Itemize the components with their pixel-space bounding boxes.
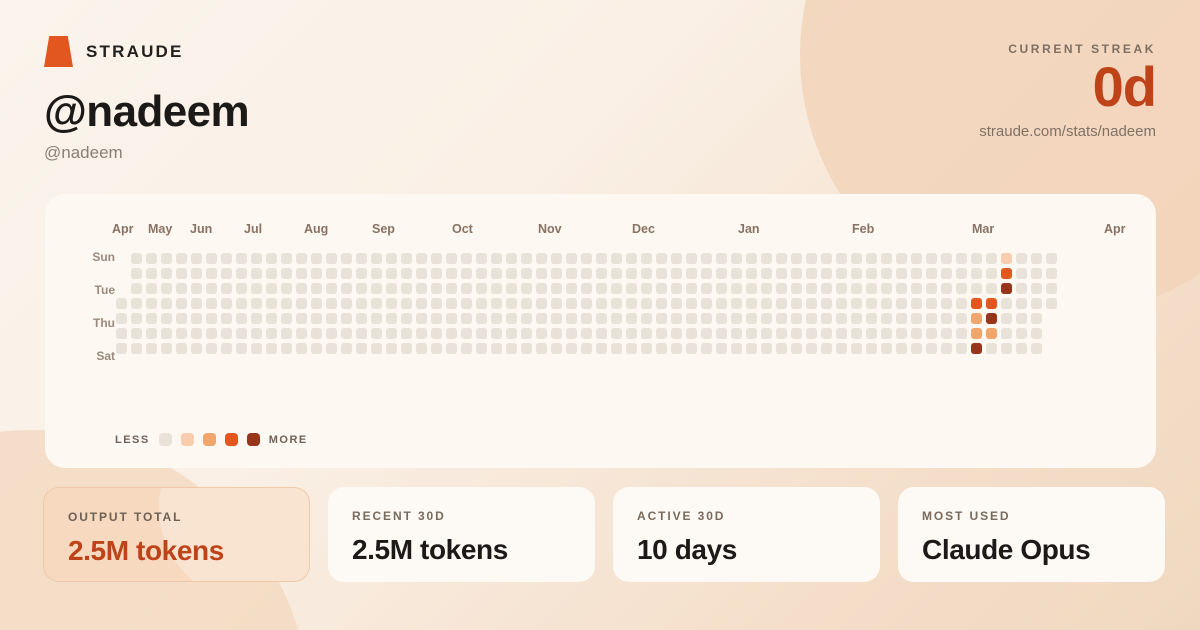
heatmap-cell[interactable] bbox=[131, 268, 142, 279]
heatmap-cell[interactable] bbox=[986, 298, 997, 309]
heatmap-cell[interactable] bbox=[986, 313, 997, 324]
heatmap-cell[interactable] bbox=[356, 298, 367, 309]
heatmap-cell[interactable] bbox=[311, 253, 322, 264]
heatmap-cell[interactable] bbox=[626, 313, 637, 324]
heatmap-cell[interactable] bbox=[461, 268, 472, 279]
heatmap-cell[interactable] bbox=[971, 283, 982, 294]
heatmap-cell[interactable] bbox=[191, 313, 202, 324]
heatmap-cell[interactable] bbox=[491, 253, 502, 264]
heatmap-cell[interactable] bbox=[821, 298, 832, 309]
heatmap-cell[interactable] bbox=[671, 328, 682, 339]
heatmap-cell[interactable] bbox=[356, 268, 367, 279]
heatmap-cell[interactable] bbox=[326, 283, 337, 294]
heatmap-cell[interactable] bbox=[416, 328, 427, 339]
heatmap-cell[interactable] bbox=[911, 283, 922, 294]
heatmap-cell[interactable] bbox=[551, 283, 562, 294]
heatmap-cell[interactable] bbox=[746, 298, 757, 309]
heatmap-cell[interactable] bbox=[251, 268, 262, 279]
heatmap-cell[interactable] bbox=[476, 328, 487, 339]
heatmap-cell[interactable] bbox=[341, 283, 352, 294]
heatmap-cell[interactable] bbox=[1031, 328, 1042, 339]
heatmap-cell[interactable] bbox=[461, 298, 472, 309]
heatmap-cell[interactable] bbox=[896, 253, 907, 264]
heatmap-cell[interactable] bbox=[116, 313, 127, 324]
heatmap-cell[interactable] bbox=[776, 343, 787, 354]
heatmap-cell[interactable] bbox=[941, 343, 952, 354]
heatmap-cell[interactable] bbox=[761, 328, 772, 339]
heatmap-cell[interactable] bbox=[926, 283, 937, 294]
heatmap-cell[interactable] bbox=[671, 298, 682, 309]
heatmap-cell[interactable] bbox=[701, 343, 712, 354]
heatmap-cell[interactable] bbox=[836, 253, 847, 264]
heatmap-cell[interactable] bbox=[596, 298, 607, 309]
heatmap-cell[interactable] bbox=[446, 283, 457, 294]
heatmap-cell[interactable] bbox=[191, 343, 202, 354]
heatmap-cell[interactable] bbox=[371, 283, 382, 294]
heatmap-cell[interactable] bbox=[371, 313, 382, 324]
heatmap-cell[interactable] bbox=[716, 313, 727, 324]
heatmap-cell[interactable] bbox=[911, 253, 922, 264]
heatmap-cell[interactable] bbox=[266, 283, 277, 294]
heatmap-cell[interactable] bbox=[836, 313, 847, 324]
heatmap-cell[interactable] bbox=[956, 283, 967, 294]
heatmap-cell[interactable] bbox=[881, 298, 892, 309]
heatmap-cell[interactable] bbox=[911, 343, 922, 354]
heatmap-cell[interactable] bbox=[641, 298, 652, 309]
heatmap-cell[interactable] bbox=[416, 298, 427, 309]
heatmap-cell[interactable] bbox=[851, 313, 862, 324]
heatmap-cell[interactable] bbox=[716, 268, 727, 279]
heatmap-cell[interactable] bbox=[911, 328, 922, 339]
heatmap-cell[interactable] bbox=[791, 283, 802, 294]
heatmap-cell[interactable] bbox=[536, 343, 547, 354]
heatmap-cell[interactable] bbox=[866, 298, 877, 309]
heatmap-cell[interactable] bbox=[146, 343, 157, 354]
heatmap-cell[interactable] bbox=[1016, 283, 1027, 294]
heatmap-cell[interactable] bbox=[416, 268, 427, 279]
heatmap-cell[interactable] bbox=[971, 268, 982, 279]
heatmap-cell[interactable] bbox=[251, 343, 262, 354]
heatmap-cell[interactable] bbox=[761, 253, 772, 264]
heatmap-cell[interactable] bbox=[491, 328, 502, 339]
heatmap-cell[interactable] bbox=[806, 253, 817, 264]
heatmap-cell[interactable] bbox=[746, 253, 757, 264]
heatmap-cell[interactable] bbox=[161, 283, 172, 294]
heatmap-cell[interactable] bbox=[626, 343, 637, 354]
heatmap-cell[interactable] bbox=[386, 343, 397, 354]
heatmap-cell[interactable] bbox=[281, 283, 292, 294]
heatmap-cell[interactable] bbox=[956, 343, 967, 354]
heatmap-cell[interactable] bbox=[581, 283, 592, 294]
heatmap-cell[interactable] bbox=[461, 328, 472, 339]
heatmap-cell[interactable] bbox=[431, 343, 442, 354]
heatmap-cell[interactable] bbox=[536, 328, 547, 339]
heatmap-cell[interactable] bbox=[776, 328, 787, 339]
heatmap-cell[interactable] bbox=[566, 313, 577, 324]
heatmap-cell[interactable] bbox=[776, 298, 787, 309]
heatmap-cell[interactable] bbox=[431, 328, 442, 339]
heatmap-cell[interactable] bbox=[941, 268, 952, 279]
heatmap-cell[interactable] bbox=[461, 313, 472, 324]
heatmap-cell[interactable] bbox=[356, 253, 367, 264]
heatmap-cell[interactable] bbox=[506, 313, 517, 324]
heatmap-cell[interactable] bbox=[1016, 328, 1027, 339]
heatmap-cell[interactable] bbox=[251, 283, 262, 294]
heatmap-cell[interactable] bbox=[146, 313, 157, 324]
heatmap-cell[interactable] bbox=[971, 313, 982, 324]
heatmap-cell[interactable] bbox=[566, 298, 577, 309]
heatmap-cell[interactable] bbox=[296, 343, 307, 354]
heatmap-cell[interactable] bbox=[341, 268, 352, 279]
heatmap-cell[interactable] bbox=[491, 313, 502, 324]
heatmap-cell[interactable] bbox=[896, 343, 907, 354]
heatmap-cell[interactable] bbox=[791, 298, 802, 309]
heatmap-cell[interactable] bbox=[161, 343, 172, 354]
heatmap-cell[interactable] bbox=[296, 283, 307, 294]
heatmap-cell[interactable] bbox=[566, 343, 577, 354]
heatmap-cell[interactable] bbox=[206, 268, 217, 279]
heatmap-cell[interactable] bbox=[401, 253, 412, 264]
heatmap-cell[interactable] bbox=[941, 328, 952, 339]
heatmap-cell[interactable] bbox=[1001, 343, 1012, 354]
heatmap-cell[interactable] bbox=[566, 268, 577, 279]
heatmap-cell[interactable] bbox=[551, 328, 562, 339]
heatmap-cell[interactable] bbox=[1001, 253, 1012, 264]
heatmap-cell[interactable] bbox=[476, 313, 487, 324]
heatmap-cell[interactable] bbox=[611, 298, 622, 309]
heatmap-cell[interactable] bbox=[596, 343, 607, 354]
heatmap-cell[interactable] bbox=[146, 283, 157, 294]
heatmap-cell[interactable] bbox=[476, 298, 487, 309]
heatmap-cell[interactable] bbox=[941, 313, 952, 324]
heatmap-cell[interactable] bbox=[446, 298, 457, 309]
heatmap-cell[interactable] bbox=[611, 283, 622, 294]
heatmap-cell[interactable] bbox=[1046, 283, 1057, 294]
heatmap-cell[interactable] bbox=[251, 313, 262, 324]
heatmap-cell[interactable] bbox=[536, 283, 547, 294]
heatmap-cell[interactable] bbox=[221, 313, 232, 324]
heatmap-cell[interactable] bbox=[131, 313, 142, 324]
heatmap-cell[interactable] bbox=[236, 283, 247, 294]
heatmap-cell[interactable] bbox=[881, 253, 892, 264]
heatmap-cell[interactable] bbox=[161, 298, 172, 309]
heatmap-cell[interactable] bbox=[191, 253, 202, 264]
heatmap-cell[interactable] bbox=[731, 343, 742, 354]
heatmap-cell[interactable] bbox=[791, 268, 802, 279]
heatmap-cell[interactable] bbox=[971, 343, 982, 354]
heatmap-cell[interactable] bbox=[761, 283, 772, 294]
heatmap-cell[interactable] bbox=[746, 283, 757, 294]
heatmap-cell[interactable] bbox=[221, 343, 232, 354]
heatmap-cell[interactable] bbox=[521, 343, 532, 354]
heatmap-cell[interactable] bbox=[356, 328, 367, 339]
heatmap-cell[interactable] bbox=[1016, 343, 1027, 354]
heatmap-cell[interactable] bbox=[371, 343, 382, 354]
heatmap-cell[interactable] bbox=[311, 343, 322, 354]
heatmap-cell[interactable] bbox=[641, 268, 652, 279]
heatmap-cell[interactable] bbox=[551, 253, 562, 264]
heatmap-cell[interactable] bbox=[131, 283, 142, 294]
heatmap-cell[interactable] bbox=[116, 298, 127, 309]
heatmap-cell[interactable] bbox=[476, 253, 487, 264]
heatmap-cell[interactable] bbox=[1046, 298, 1057, 309]
heatmap-cell[interactable] bbox=[416, 253, 427, 264]
heatmap-cell[interactable] bbox=[971, 298, 982, 309]
heatmap-cell[interactable] bbox=[746, 343, 757, 354]
heatmap-cell[interactable] bbox=[266, 313, 277, 324]
heatmap-cell[interactable] bbox=[386, 328, 397, 339]
heatmap-cell[interactable] bbox=[401, 313, 412, 324]
heatmap-cell[interactable] bbox=[986, 283, 997, 294]
heatmap-cell[interactable] bbox=[956, 253, 967, 264]
heatmap-cell[interactable] bbox=[731, 268, 742, 279]
heatmap-cell[interactable] bbox=[986, 268, 997, 279]
heatmap-cell[interactable] bbox=[761, 343, 772, 354]
heatmap-cell[interactable] bbox=[221, 328, 232, 339]
heatmap-cell[interactable] bbox=[446, 328, 457, 339]
heatmap-cell[interactable] bbox=[1046, 268, 1057, 279]
heatmap-cell[interactable] bbox=[641, 253, 652, 264]
heatmap-cell[interactable] bbox=[401, 268, 412, 279]
heatmap-cell[interactable] bbox=[731, 283, 742, 294]
heatmap-cell[interactable] bbox=[716, 253, 727, 264]
heatmap-cell[interactable] bbox=[191, 328, 202, 339]
heatmap-cell[interactable] bbox=[791, 343, 802, 354]
heatmap-cell[interactable] bbox=[821, 253, 832, 264]
heatmap-cell[interactable] bbox=[806, 313, 817, 324]
heatmap-cell[interactable] bbox=[326, 253, 337, 264]
heatmap-cell[interactable] bbox=[581, 253, 592, 264]
heatmap-cell[interactable] bbox=[821, 283, 832, 294]
heatmap-cell[interactable] bbox=[686, 283, 697, 294]
heatmap-cell[interactable] bbox=[161, 253, 172, 264]
heatmap-cell[interactable] bbox=[521, 253, 532, 264]
heatmap-cell[interactable] bbox=[311, 283, 322, 294]
heatmap-cell[interactable] bbox=[671, 313, 682, 324]
heatmap-cell[interactable] bbox=[746, 313, 757, 324]
heatmap-cell[interactable] bbox=[611, 268, 622, 279]
heatmap-cell[interactable] bbox=[386, 268, 397, 279]
heatmap-cell[interactable] bbox=[836, 298, 847, 309]
heatmap-cell[interactable] bbox=[191, 268, 202, 279]
heatmap-cell[interactable] bbox=[1001, 313, 1012, 324]
heatmap-cell[interactable] bbox=[191, 283, 202, 294]
heatmap-cell[interactable] bbox=[341, 328, 352, 339]
heatmap-cell[interactable] bbox=[581, 328, 592, 339]
heatmap-cell[interactable] bbox=[206, 253, 217, 264]
heatmap-cell[interactable] bbox=[686, 343, 697, 354]
heatmap-cell[interactable] bbox=[686, 328, 697, 339]
heatmap-cell[interactable] bbox=[116, 343, 127, 354]
heatmap-cell[interactable] bbox=[686, 268, 697, 279]
heatmap-cell[interactable] bbox=[791, 328, 802, 339]
heatmap-cell[interactable] bbox=[476, 268, 487, 279]
heatmap-cell[interactable] bbox=[236, 253, 247, 264]
heatmap-cell[interactable] bbox=[236, 343, 247, 354]
heatmap-cell[interactable] bbox=[236, 313, 247, 324]
heatmap-cell[interactable] bbox=[656, 328, 667, 339]
heatmap-cell[interactable] bbox=[926, 328, 937, 339]
heatmap-cell[interactable] bbox=[446, 343, 457, 354]
heatmap-cell[interactable] bbox=[266, 268, 277, 279]
heatmap-cell[interactable] bbox=[461, 253, 472, 264]
heatmap-cell[interactable] bbox=[506, 328, 517, 339]
heatmap-cell[interactable] bbox=[236, 328, 247, 339]
heatmap-cell[interactable] bbox=[536, 298, 547, 309]
heatmap-cell[interactable] bbox=[836, 268, 847, 279]
heatmap-cell[interactable] bbox=[491, 283, 502, 294]
heatmap-cell[interactable] bbox=[371, 268, 382, 279]
heatmap-cell[interactable] bbox=[851, 268, 862, 279]
heatmap-cell[interactable] bbox=[461, 343, 472, 354]
heatmap-cell[interactable] bbox=[551, 268, 562, 279]
heatmap-cell[interactable] bbox=[566, 253, 577, 264]
heatmap-cell[interactable] bbox=[1001, 268, 1012, 279]
heatmap-cell[interactable] bbox=[431, 298, 442, 309]
heatmap-cell[interactable] bbox=[941, 253, 952, 264]
heatmap-cell[interactable] bbox=[431, 283, 442, 294]
heatmap-cell[interactable] bbox=[326, 313, 337, 324]
heatmap-cell[interactable] bbox=[881, 343, 892, 354]
heatmap-cell[interactable] bbox=[476, 283, 487, 294]
heatmap-cell[interactable] bbox=[536, 268, 547, 279]
heatmap-cell[interactable] bbox=[671, 283, 682, 294]
heatmap-cell[interactable] bbox=[131, 343, 142, 354]
heatmap-cell[interactable] bbox=[536, 313, 547, 324]
heatmap-cell[interactable] bbox=[326, 298, 337, 309]
heatmap-cell[interactable] bbox=[131, 298, 142, 309]
heatmap-cell[interactable] bbox=[941, 283, 952, 294]
heatmap-cell[interactable] bbox=[641, 313, 652, 324]
heatmap-cell[interactable] bbox=[596, 313, 607, 324]
heatmap-cell[interactable] bbox=[281, 313, 292, 324]
heatmap-cell[interactable] bbox=[806, 328, 817, 339]
heatmap-cell[interactable] bbox=[401, 328, 412, 339]
heatmap-cell[interactable] bbox=[176, 328, 187, 339]
heatmap-cell[interactable] bbox=[806, 283, 817, 294]
heatmap-cell[interactable] bbox=[506, 343, 517, 354]
heatmap-cell[interactable] bbox=[851, 253, 862, 264]
heatmap-cell[interactable] bbox=[851, 298, 862, 309]
heatmap-cell[interactable] bbox=[731, 253, 742, 264]
heatmap-cell[interactable] bbox=[1016, 253, 1027, 264]
heatmap-cell[interactable] bbox=[611, 253, 622, 264]
heatmap-cell[interactable] bbox=[1001, 328, 1012, 339]
heatmap-cell[interactable] bbox=[1046, 253, 1057, 264]
heatmap-cell[interactable] bbox=[671, 268, 682, 279]
heatmap-cell[interactable] bbox=[746, 328, 757, 339]
heatmap-cell[interactable] bbox=[941, 298, 952, 309]
heatmap-cell[interactable] bbox=[701, 298, 712, 309]
heatmap-cell[interactable] bbox=[386, 283, 397, 294]
heatmap-cell[interactable] bbox=[761, 313, 772, 324]
heatmap-cell[interactable] bbox=[491, 298, 502, 309]
heatmap-cell[interactable] bbox=[896, 313, 907, 324]
heatmap-cell[interactable] bbox=[251, 298, 262, 309]
heatmap-cell[interactable] bbox=[521, 313, 532, 324]
heatmap-cell[interactable] bbox=[266, 298, 277, 309]
heatmap-cell[interactable] bbox=[1031, 343, 1042, 354]
heatmap-cell[interactable] bbox=[911, 268, 922, 279]
heatmap-cell[interactable] bbox=[1031, 268, 1042, 279]
heatmap-cell[interactable] bbox=[626, 253, 637, 264]
heatmap-cell[interactable] bbox=[821, 313, 832, 324]
heatmap-cell[interactable] bbox=[641, 328, 652, 339]
heatmap-cell[interactable] bbox=[866, 283, 877, 294]
heatmap-cell[interactable] bbox=[776, 253, 787, 264]
heatmap-cell[interactable] bbox=[236, 298, 247, 309]
heatmap-cell[interactable] bbox=[836, 328, 847, 339]
heatmap-cell[interactable] bbox=[221, 298, 232, 309]
heatmap-cell[interactable] bbox=[326, 268, 337, 279]
heatmap-cell[interactable] bbox=[821, 328, 832, 339]
heatmap-cell[interactable] bbox=[626, 328, 637, 339]
heatmap-cell[interactable] bbox=[881, 283, 892, 294]
heatmap-cell[interactable] bbox=[281, 343, 292, 354]
heatmap-cell[interactable] bbox=[791, 253, 802, 264]
heatmap-cell[interactable] bbox=[806, 298, 817, 309]
heatmap-cell[interactable] bbox=[506, 283, 517, 294]
heatmap-cell[interactable] bbox=[251, 253, 262, 264]
heatmap-cell[interactable] bbox=[626, 298, 637, 309]
heatmap-cell[interactable] bbox=[296, 268, 307, 279]
heatmap-cell[interactable] bbox=[176, 343, 187, 354]
heatmap-cell[interactable] bbox=[176, 268, 187, 279]
heatmap-cell[interactable] bbox=[746, 268, 757, 279]
heatmap-cell[interactable] bbox=[371, 298, 382, 309]
heatmap-cell[interactable] bbox=[641, 283, 652, 294]
heatmap-cell[interactable] bbox=[281, 268, 292, 279]
heatmap-cell[interactable] bbox=[446, 253, 457, 264]
heatmap-cell[interactable] bbox=[986, 328, 997, 339]
heatmap-cell[interactable] bbox=[896, 283, 907, 294]
heatmap-cell[interactable] bbox=[956, 298, 967, 309]
heatmap-cell[interactable] bbox=[296, 298, 307, 309]
heatmap-cell[interactable] bbox=[866, 343, 877, 354]
heatmap-cell[interactable] bbox=[506, 268, 517, 279]
heatmap-cell[interactable] bbox=[236, 268, 247, 279]
heatmap-cell[interactable] bbox=[626, 283, 637, 294]
heatmap-cell[interactable] bbox=[956, 313, 967, 324]
heatmap-cell[interactable] bbox=[446, 313, 457, 324]
heatmap-cell[interactable] bbox=[611, 343, 622, 354]
heatmap-cell[interactable] bbox=[896, 298, 907, 309]
heatmap-cell[interactable] bbox=[296, 313, 307, 324]
heatmap-cell[interactable] bbox=[131, 253, 142, 264]
heatmap-cell[interactable] bbox=[866, 268, 877, 279]
heatmap-cell[interactable] bbox=[776, 313, 787, 324]
heatmap-cell[interactable] bbox=[671, 343, 682, 354]
heatmap-cell[interactable] bbox=[806, 343, 817, 354]
heatmap-cell[interactable] bbox=[926, 343, 937, 354]
heatmap-cell[interactable] bbox=[581, 313, 592, 324]
heatmap-cell[interactable] bbox=[1031, 253, 1042, 264]
heatmap-cell[interactable] bbox=[896, 328, 907, 339]
heatmap-cell[interactable] bbox=[131, 328, 142, 339]
heatmap-cell[interactable] bbox=[971, 328, 982, 339]
heatmap-cell[interactable] bbox=[431, 268, 442, 279]
heatmap-cell[interactable] bbox=[386, 253, 397, 264]
heatmap-cell[interactable] bbox=[971, 253, 982, 264]
heatmap-cell[interactable] bbox=[446, 268, 457, 279]
heatmap-cell[interactable] bbox=[656, 253, 667, 264]
heatmap-cell[interactable] bbox=[866, 328, 877, 339]
heatmap-cell[interactable] bbox=[851, 343, 862, 354]
heatmap-cell[interactable] bbox=[656, 268, 667, 279]
heatmap-cell[interactable] bbox=[956, 268, 967, 279]
heatmap-cell[interactable] bbox=[581, 343, 592, 354]
heatmap-cell[interactable] bbox=[656, 283, 667, 294]
